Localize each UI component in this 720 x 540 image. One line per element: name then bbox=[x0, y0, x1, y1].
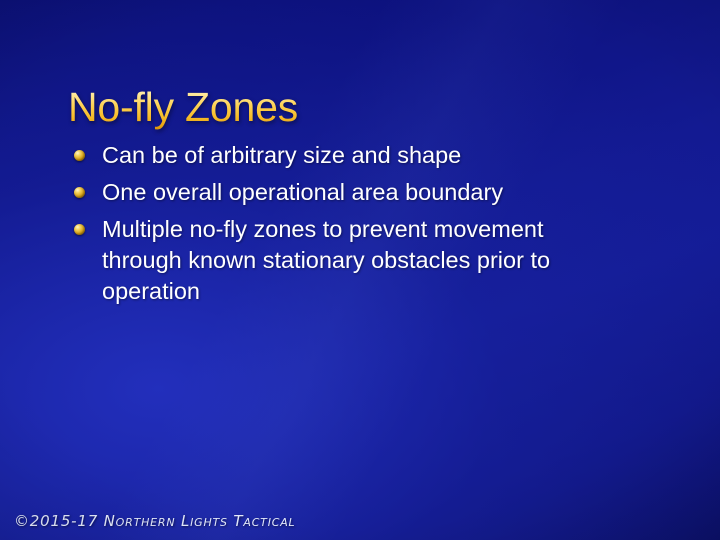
bullet-item-1: Can be of arbitrary size and shape bbox=[68, 140, 628, 171]
bullet-item-3: Multiple no-fly zones to prevent movemen… bbox=[68, 214, 628, 307]
gold-sphere-bullet-icon bbox=[74, 187, 85, 198]
bullet-item-3-text: Multiple no-fly zones to prevent movemen… bbox=[102, 216, 550, 304]
slide-bullet-list: Can be of arbitrary size and shape One o… bbox=[68, 140, 628, 307]
bullet-item-2: One overall operational area boundary bbox=[68, 177, 628, 208]
copyright-footer: ©2015-17 Northern Lights Tactical bbox=[14, 512, 295, 530]
slide-title: No-fly Zones bbox=[68, 85, 298, 129]
presentation-slide: No-fly Zones Can be of arbitrary size an… bbox=[0, 0, 720, 540]
gold-sphere-bullet-icon bbox=[74, 224, 85, 235]
gold-sphere-bullet-icon bbox=[74, 150, 85, 161]
bullet-item-1-text: Can be of arbitrary size and shape bbox=[102, 142, 461, 168]
bullet-item-2-text: One overall operational area boundary bbox=[102, 179, 503, 205]
